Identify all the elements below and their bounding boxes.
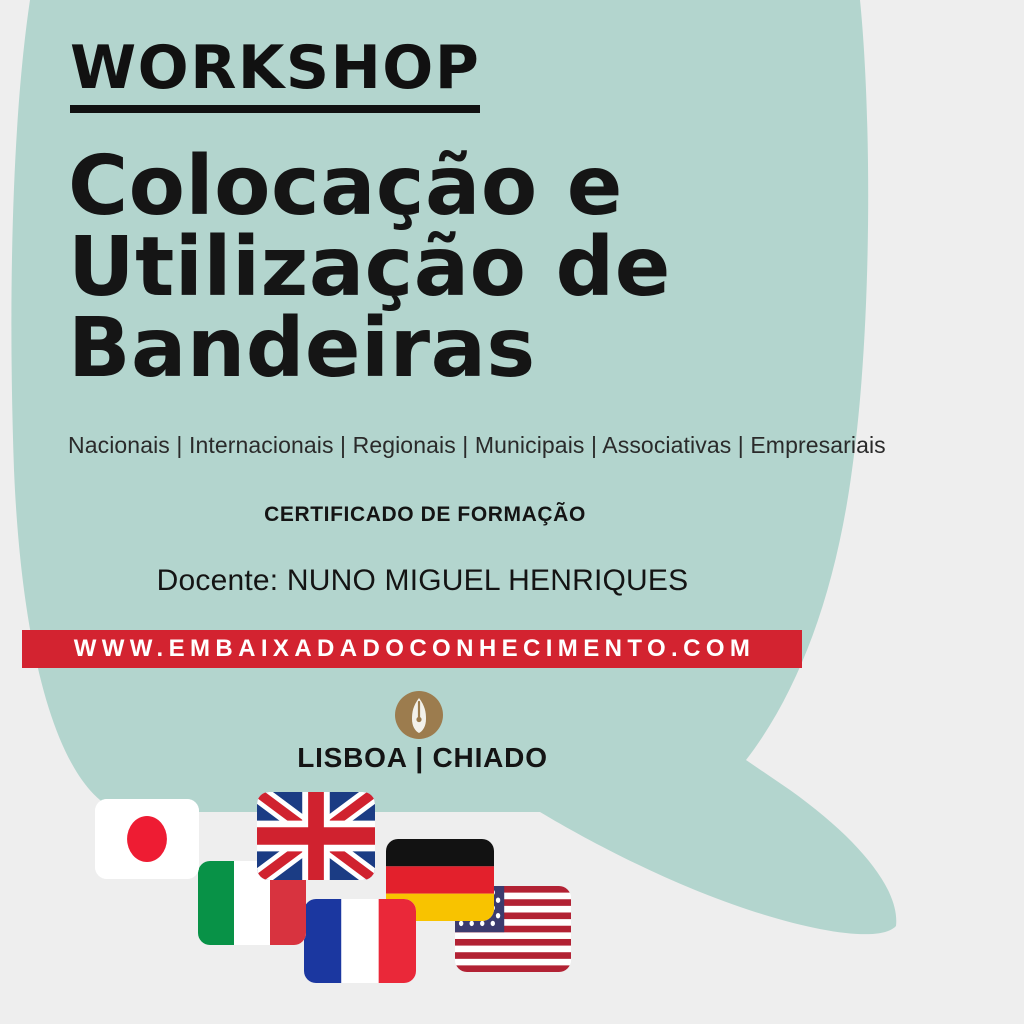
poster-canvas: WORKSHOP Colocação e Utilização de Bande… [0,0,1024,1024]
flags-cluster [0,0,1024,1024]
flag-france [304,899,416,983]
flag-united-kingdom [257,792,375,880]
flag-japan [95,799,199,879]
